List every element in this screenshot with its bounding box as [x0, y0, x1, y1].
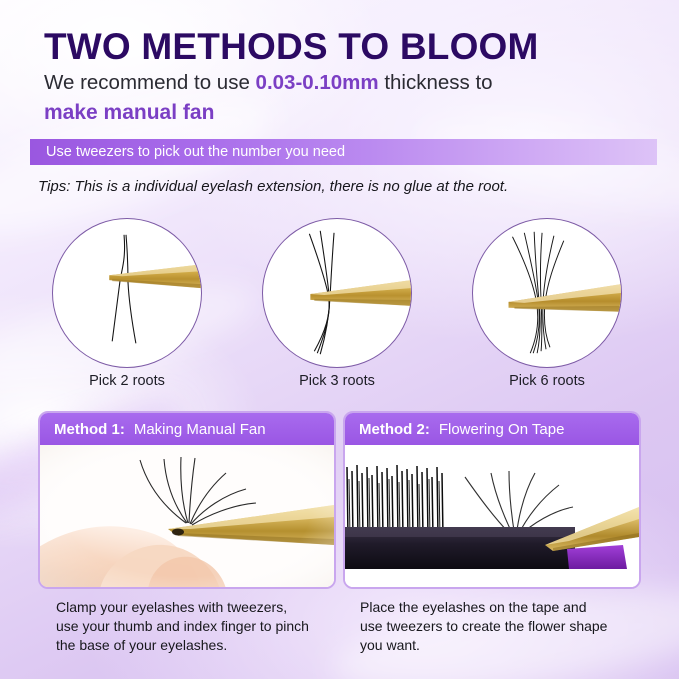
subtitle-prefix: We recommend to use — [44, 71, 256, 94]
tips-note: Tips: This is a individual eyelash exten… — [38, 178, 508, 195]
roots-examples-row: Pick 2 roots — [0, 218, 679, 393]
method-panel-1: Method 1: Making Manual Fan — [38, 411, 336, 589]
method-2-caption: Place the eyelashes on the tape and use … — [360, 598, 660, 655]
tweezers-lash-icon — [473, 219, 621, 367]
thickness-value: 0.03-0.10mm — [256, 71, 379, 94]
roots-example-2: Pick 3 roots — [262, 218, 412, 368]
roots-label-3: Pick 6 roots — [472, 373, 622, 389]
subtitle-line-2: make manual fan — [44, 101, 214, 125]
instruction-band-text: Use tweezers to pick out the number you … — [30, 144, 345, 160]
method-1-number: Method 1: — [54, 421, 125, 438]
tweezers-lash-icon — [53, 219, 201, 367]
background-streak — [416, 103, 679, 228]
infographic-page: TWO METHODS TO BLOOM We recommend to use… — [0, 0, 679, 679]
roots-circle-2 — [262, 218, 412, 368]
tweezers-lash-icon — [263, 219, 411, 367]
fingers-pinching-fan-photo — [40, 445, 334, 589]
roots-example-3: Pick 6 roots — [472, 218, 622, 368]
method-2-header: Method 2: Flowering On Tape — [345, 413, 639, 445]
roots-example-1: Pick 2 roots — [52, 218, 202, 368]
roots-label-2: Pick 3 roots — [262, 373, 412, 389]
method-2-number: Method 2: — [359, 421, 430, 438]
lashes-on-tape-photo — [345, 445, 639, 589]
subtitle-suffix: thickness to — [379, 71, 493, 94]
method-2-photo — [345, 445, 639, 589]
subtitle-line-1: We recommend to use 0.03-0.10mm thicknes… — [44, 71, 493, 95]
roots-circle-3 — [472, 218, 622, 368]
method-1-photo — [40, 445, 334, 589]
instruction-band: Use tweezers to pick out the number you … — [30, 139, 657, 165]
method-2-title: Flowering On Tape — [439, 421, 565, 438]
roots-circle-1 — [52, 218, 202, 368]
method-1-header: Method 1: Making Manual Fan — [40, 413, 334, 445]
method-1-caption: Clamp your eyelashes with tweezers, use … — [56, 598, 356, 655]
method-panel-2: Method 2: Flowering On Tape — [343, 411, 641, 589]
roots-label-1: Pick 2 roots — [52, 373, 202, 389]
method-1-title: Making Manual Fan — [134, 421, 266, 438]
page-title: TWO METHODS TO BLOOM — [44, 26, 539, 68]
